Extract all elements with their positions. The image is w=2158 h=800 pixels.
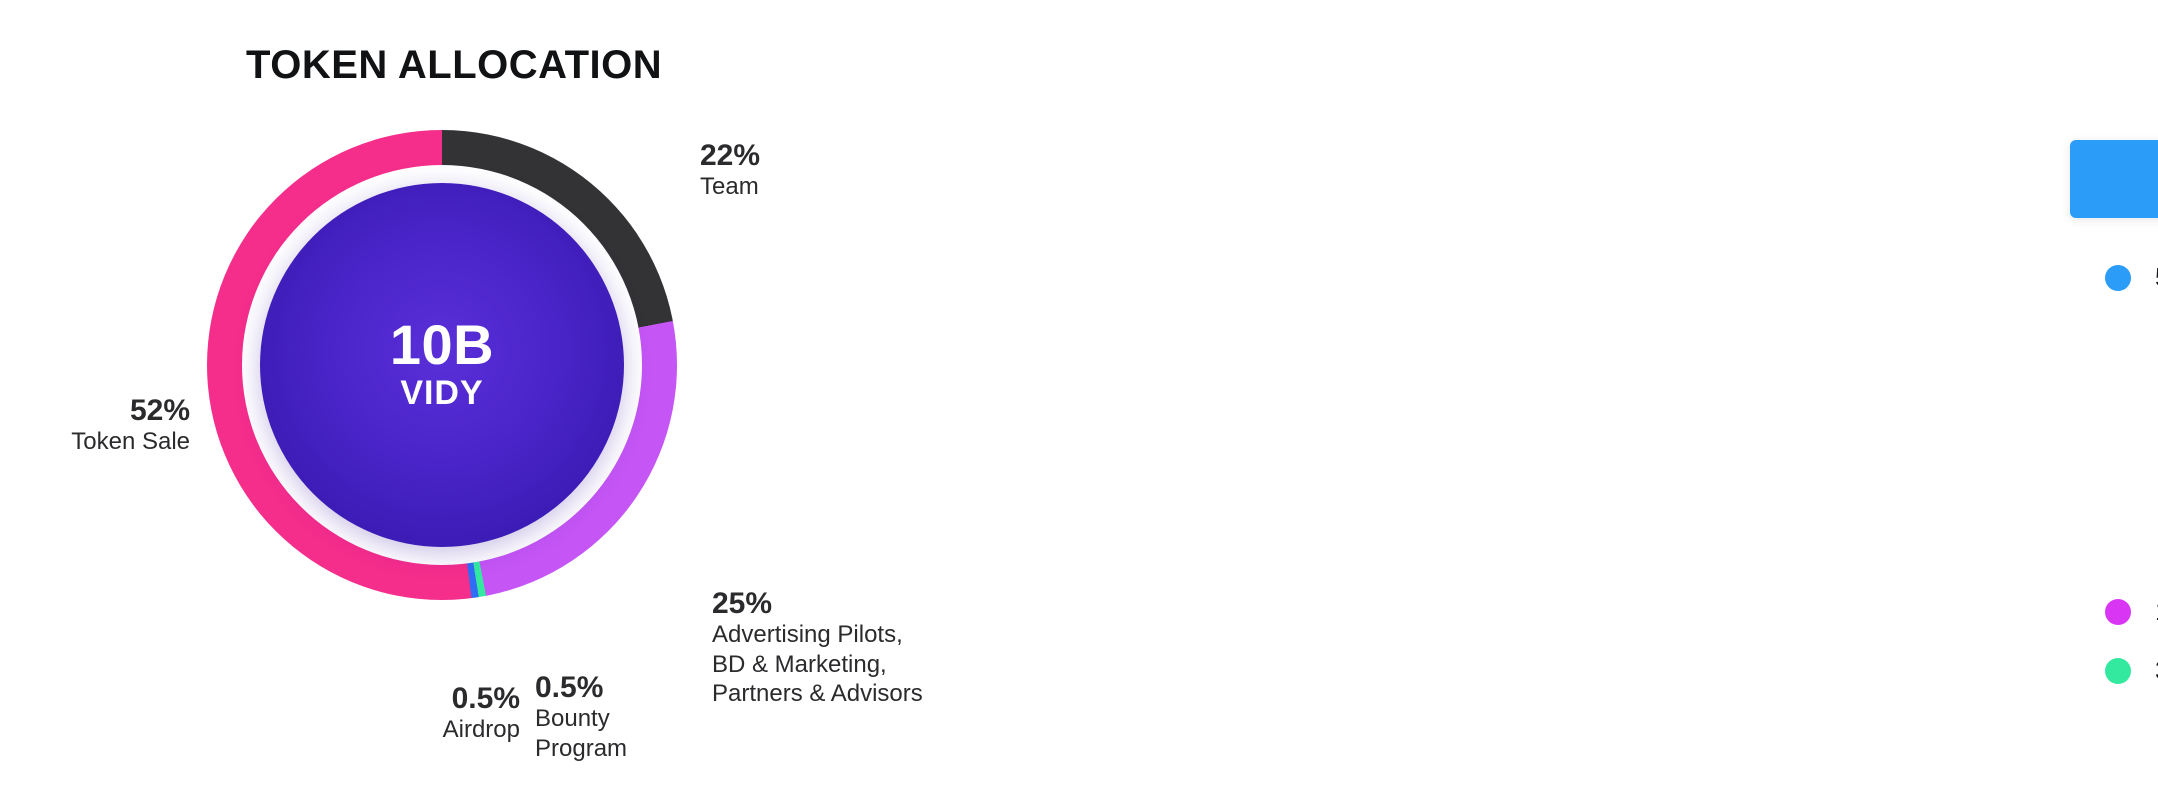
callout-airdrop-name: Airdrop (410, 715, 520, 744)
donut-center-core: 10B VIDY (260, 183, 624, 547)
use-of-proceeds-stacked-bar: 55%25%10%5% (2070, 140, 2158, 218)
callout-token-sale-pct: 52% (20, 395, 190, 427)
callout-team-name: Team (700, 172, 760, 201)
callout-token-sale-name: Token Sale (20, 427, 190, 456)
use-of-proceeds-legend: 55% Solution DevelopmentAd Bidding Syste… (2105, 262, 2158, 692)
legend-item-solution-development: 55% Solution Development (2105, 262, 2158, 293)
infographic-board: TOKEN ALLOCATION 10B VIDY 22% Team 52% T… (0, 0, 2158, 800)
callout-token-sale: 52% Token Sale (20, 395, 190, 457)
use-of-proceeds-panel: USE OF PROCEEDS 55%25%10%5% 55% Solution… (1030, 0, 2158, 800)
token-allocation-donut-chart: 10B VIDY (152, 112, 772, 732)
legend-item-token-security: 3% Token Security (2105, 655, 2158, 686)
legend-column-left: 55% Solution DevelopmentAd Bidding Syste… (2105, 262, 2158, 692)
legend-color-dot (2105, 599, 2131, 625)
callout-bounty-pct: 0.5% (535, 672, 627, 704)
callout-bounty: 0.5% Bounty Program (535, 672, 627, 763)
callout-airdrop-pct: 0.5% (410, 683, 520, 715)
callout-advertising-name: Advertising Pilots, BD & Marketing, Part… (712, 620, 923, 708)
bar-segment-0: 55% (2070, 140, 2158, 218)
legend-color-dot (2105, 658, 2131, 684)
legend-item-content: 10% Content (2105, 596, 2158, 627)
legend-spacer (2105, 560, 2158, 596)
callout-bounty-name: Bounty Program (535, 704, 627, 763)
callout-advertising: 25% Advertising Pilots, BD & Marketing, … (712, 588, 923, 708)
page-title-token-allocation: TOKEN ALLOCATION (246, 43, 662, 88)
token-ticker: VIDY (400, 373, 483, 414)
token-allocation-panel: TOKEN ALLOCATION 10B VIDY 22% Team 52% T… (0, 0, 1030, 800)
callout-advertising-pct: 25% (712, 588, 923, 620)
callout-team: 22% Team (700, 140, 760, 202)
callout-airdrop: 0.5% Airdrop (410, 683, 520, 745)
token-total-amount: 10B (390, 317, 494, 373)
legend-spacer (2105, 633, 2158, 655)
callout-team-pct: 22% (700, 140, 760, 172)
legend-color-dot (2105, 265, 2131, 291)
